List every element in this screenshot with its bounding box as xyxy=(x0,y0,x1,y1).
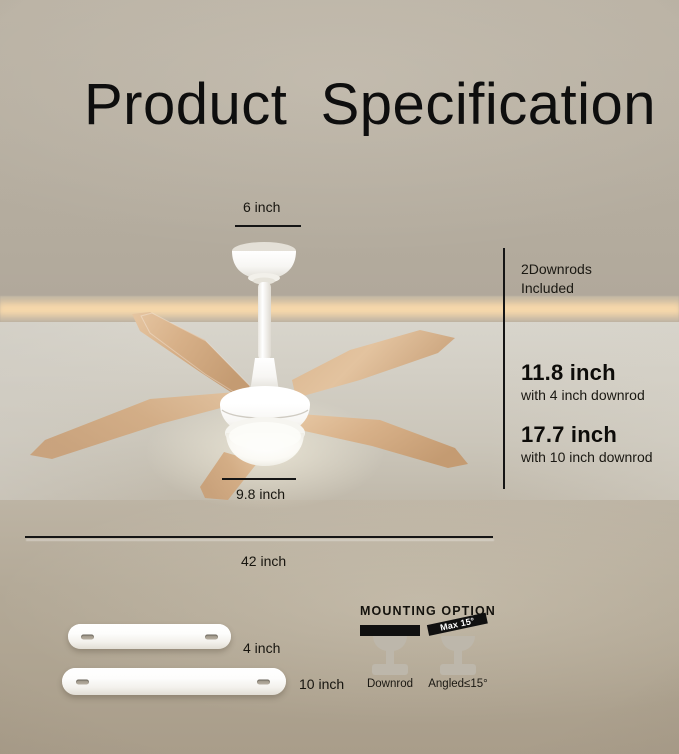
downrod-4-label: 4 inch xyxy=(243,640,280,656)
ceiling-bar-icon xyxy=(360,625,420,636)
mounting-option-label-downrod: Downrod xyxy=(360,678,420,690)
motor-housing-icon xyxy=(440,664,476,675)
canopy-icon xyxy=(373,636,407,651)
height-caption-short: with 4 inch downrod xyxy=(521,387,645,404)
span-dimension-line-shadow xyxy=(26,539,494,541)
downrod-hole-right xyxy=(205,634,218,639)
height-value-tall: 17.7 inch xyxy=(521,422,617,447)
mounting-option-label-angled: Angled≤15° xyxy=(422,678,494,690)
mounting-option-downrod: Downrod xyxy=(360,625,420,687)
housing-dimension-line xyxy=(222,478,296,480)
downrod-hole-left xyxy=(76,679,89,684)
downrods-included-line1: 2Downrods xyxy=(521,260,592,279)
mounting-option-angled: Max 15° Angled≤15° xyxy=(428,625,488,687)
downrod-sample-4inch xyxy=(68,624,231,649)
height-value-short: 11.8 inch xyxy=(521,360,616,385)
height-caption-tall: with 10 inch downrod xyxy=(521,449,653,466)
mounting-option-row: Downrod Max 15° Angled≤15° xyxy=(360,625,490,687)
downrod-hole-right xyxy=(257,679,270,684)
cove-light-glow xyxy=(0,300,679,318)
canopy-icon xyxy=(441,636,475,651)
downrod-sample-10inch xyxy=(62,668,286,695)
canopy-dimension-line xyxy=(235,225,301,227)
blade-span-label: 42 inch xyxy=(241,553,286,569)
product-specification-image: Product Specification 6 inch 9.8 inch 42… xyxy=(0,0,679,754)
downrods-included-line2: Included xyxy=(521,279,592,298)
wall-mid xyxy=(0,322,679,520)
downrod-icon xyxy=(454,650,462,665)
motor-housing-icon xyxy=(372,664,408,675)
vertical-divider-line xyxy=(503,248,505,489)
housing-width-label: 9.8 inch xyxy=(236,486,285,502)
blade-span-dimension-line xyxy=(25,536,493,538)
downrod-10-label: 10 inch xyxy=(299,676,344,692)
canopy-width-label: 6 inch xyxy=(243,199,280,215)
downrod-icon xyxy=(386,650,394,665)
downrods-included-note: 2Downrods Included xyxy=(521,260,592,298)
mounting-option-block: MOUNTING OPTION Downrod Max 15° Angled≤1… xyxy=(360,604,490,687)
page-title: Product Specification xyxy=(84,74,656,136)
downrod-hole-left xyxy=(81,634,94,639)
